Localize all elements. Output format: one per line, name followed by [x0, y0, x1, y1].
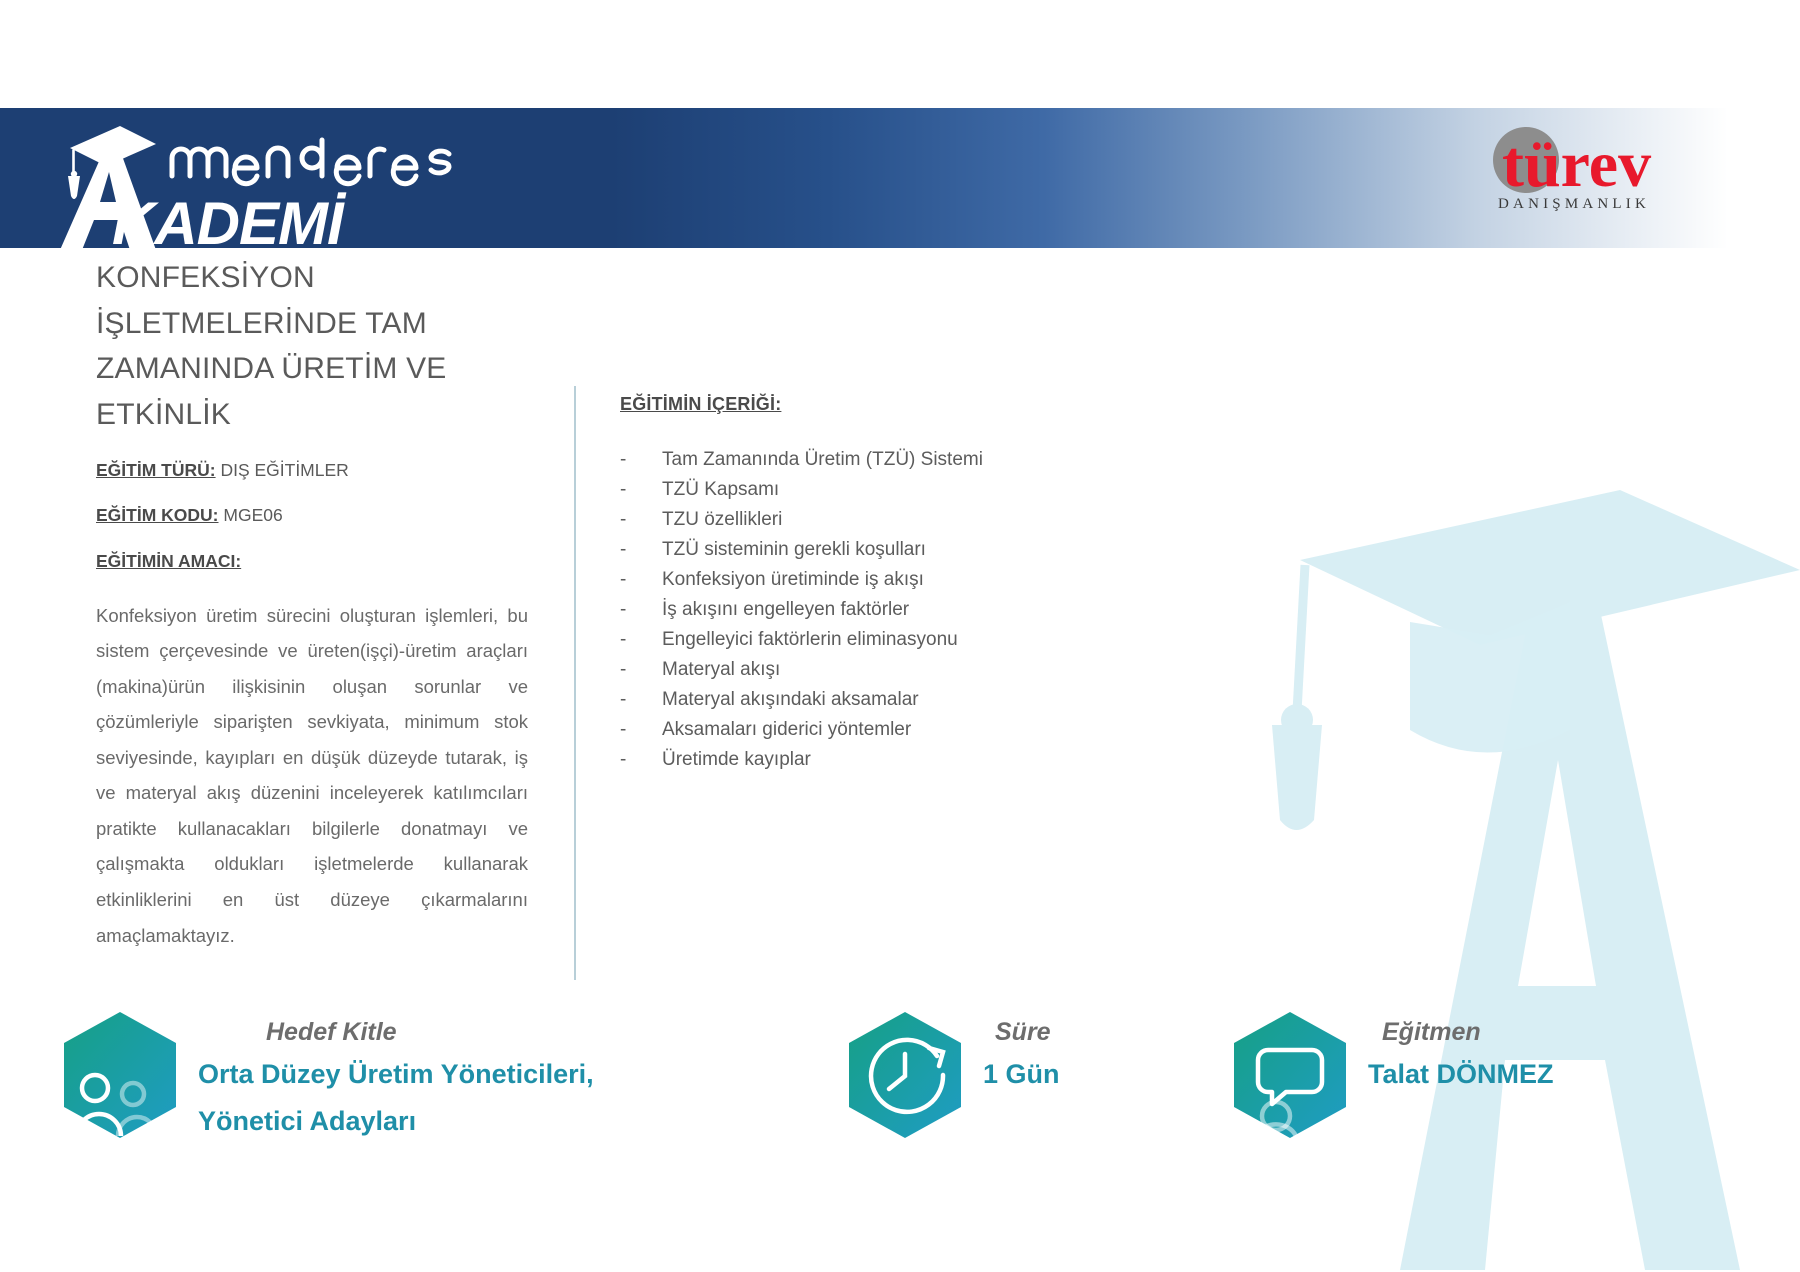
list-item: -Engelleyici faktörlerin eliminasyonu — [620, 625, 1340, 655]
purpose-label: EĞİTİMİN AMACI: — [96, 551, 528, 572]
list-item: -TZÜ Kapsamı — [620, 475, 1340, 505]
list-item: -TZU özellikleri — [620, 505, 1340, 535]
audience-title: Hedef Kitle — [198, 1018, 594, 1047]
badges-row: Hedef Kitle Orta Düzey Üretim Yöneticile… — [0, 1010, 1800, 1160]
bullet-dash-icon: - — [620, 685, 662, 715]
audience-hex — [60, 1010, 180, 1140]
audience-value-line1: Orta Düzey Üretim Yöneticileri, — [198, 1055, 594, 1094]
training-code-row: EĞİTİM KODU: MGE06 — [96, 504, 528, 527]
list-item-label: Materyal akışı — [662, 655, 780, 685]
list-item: -Materyal akışındaki aksamalar — [620, 685, 1340, 715]
trainer-title: Eğitmen — [1368, 1018, 1554, 1047]
trainer-text: Eğitmen Talat DÖNMEZ — [1350, 1010, 1554, 1094]
list-item: -Aksamaları giderici yöntemler — [620, 715, 1340, 745]
trainer-value: Talat DÖNMEZ — [1368, 1055, 1554, 1094]
speech-bubbles-icon — [1230, 1010, 1350, 1140]
list-item: -Tam Zamanında Üretim (TZÜ) Sistemi — [620, 445, 1340, 475]
svg-text:türev: türev — [1502, 128, 1651, 201]
column-divider — [574, 386, 576, 980]
list-item: -Konfeksiyon üretiminde iş akışı — [620, 565, 1340, 595]
bullet-dash-icon: - — [620, 505, 662, 535]
training-code-label: EĞİTİM KODU: — [96, 505, 219, 525]
right-column: EĞİTİMİN İÇERİĞİ: -Tam Zamanında Üretim … — [620, 394, 1340, 775]
audience-text: Hedef Kitle Orta Düzey Üretim Yöneticile… — [180, 1010, 594, 1141]
list-item-label: TZÜ sisteminin gerekli koşulları — [662, 535, 926, 565]
turev-danismanlik-logo: türev DANIŞMANLIK — [1480, 120, 1730, 215]
bullet-dash-icon: - — [620, 475, 662, 505]
left-column: KONFEKSİYON İŞLETMELERİNDE TAM ZAMANINDA… — [96, 255, 528, 953]
bullet-dash-icon: - — [620, 625, 662, 655]
duration-hex — [845, 1010, 965, 1140]
list-item-label: TZÜ Kapsamı — [662, 475, 779, 505]
list-item-label: Tam Zamanında Üretim (TZÜ) Sistemi — [662, 445, 983, 475]
page-title: KONFEKSİYON İŞLETMELERİNDE TAM ZAMANINDA… — [96, 255, 528, 437]
svg-text:DANIŞMANLIK: DANIŞMANLIK — [1498, 196, 1650, 212]
training-flyer-page: KADEMİ türev DANIŞMANLIK KONFEKSİYON İŞL… — [0, 0, 1800, 1272]
content-label: EĞİTİMİN İÇERİĞİ: — [620, 394, 1340, 415]
clock-icon — [845, 1010, 965, 1140]
list-item: -Üretimde kayıplar — [620, 745, 1340, 775]
content-list: -Tam Zamanında Üretim (TZÜ) Sistemi -TZÜ… — [620, 445, 1340, 775]
bullet-dash-icon: - — [620, 655, 662, 685]
list-item-label: Engelleyici faktörlerin eliminasyonu — [662, 625, 958, 655]
list-item: -İş akışını engelleyen faktörler — [620, 595, 1340, 625]
bullet-dash-icon: - — [620, 565, 662, 595]
training-type-value: DIŞ EĞİTİMLER — [220, 460, 348, 480]
list-item-label: İş akışını engelleyen faktörler — [662, 595, 909, 625]
training-code-value: MGE06 — [223, 505, 282, 525]
bullet-dash-icon: - — [620, 535, 662, 565]
list-item-label: TZU özellikleri — [662, 505, 782, 535]
svg-text:KADEMİ: KADEMİ — [112, 190, 347, 250]
people-group-icon — [60, 1010, 180, 1140]
list-item-label: Üretimde kayıplar — [662, 745, 811, 775]
list-item-label: Aksamaları giderici yöntemler — [662, 715, 911, 745]
audience-value-line2: Yönetici Adayları — [198, 1102, 594, 1141]
bullet-dash-icon: - — [620, 745, 662, 775]
bullet-dash-icon: - — [620, 715, 662, 745]
menderes-akademi-logo: KADEMİ — [60, 110, 480, 250]
bullet-dash-icon: - — [620, 595, 662, 625]
badge-trainer: Eğitmen Talat DÖNMEZ — [1230, 1010, 1554, 1140]
list-item: -TZÜ sisteminin gerekli koşulları — [620, 535, 1340, 565]
badge-audience: Hedef Kitle Orta Düzey Üretim Yöneticile… — [60, 1010, 594, 1141]
badge-duration: Süre 1 Gün — [845, 1010, 1060, 1140]
duration-value: 1 Gün — [983, 1055, 1060, 1094]
trainer-hex — [1230, 1010, 1350, 1140]
list-item-label: Konfeksiyon üretiminde iş akışı — [662, 565, 924, 595]
purpose-paragraph: Konfeksiyon üretim sürecini oluşturan iş… — [96, 598, 528, 953]
duration-text: Süre 1 Gün — [965, 1010, 1060, 1094]
training-type-label: EĞİTİM TÜRÜ: — [96, 460, 216, 480]
bullet-dash-icon: - — [620, 445, 662, 475]
duration-title: Süre — [983, 1018, 1060, 1047]
list-item: -Materyal akışı — [620, 655, 1340, 685]
list-item-label: Materyal akışındaki aksamalar — [662, 685, 919, 715]
training-type-row: EĞİTİM TÜRÜ: DIŞ EĞİTİMLER — [96, 459, 528, 482]
